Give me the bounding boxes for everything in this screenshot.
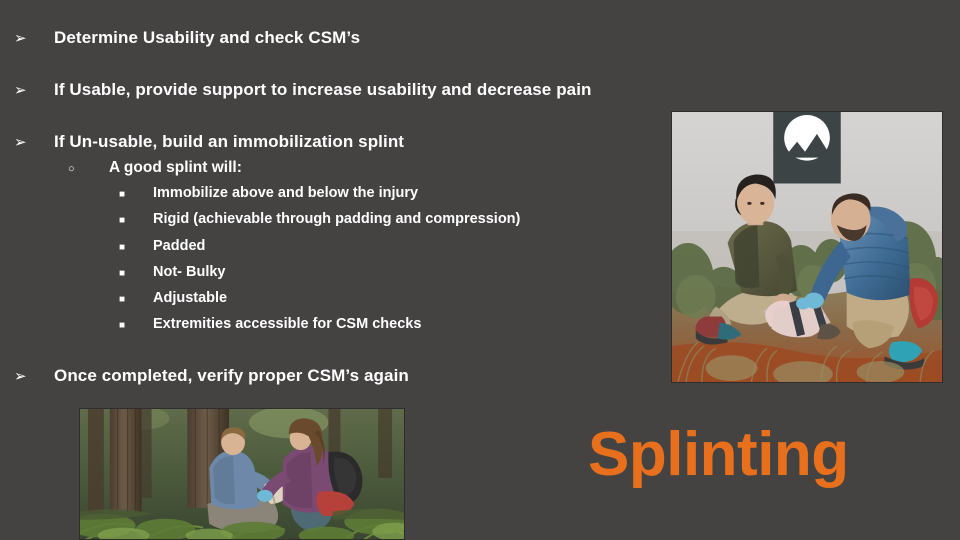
bullet-row: ■ Rigid (achievable through padding and … bbox=[119, 211, 520, 227]
bullet-row: ■ Adjustable bbox=[119, 290, 227, 306]
bullet-text: If Usable, provide support to increase u… bbox=[54, 80, 592, 100]
bullet-text: A good splint will: bbox=[109, 159, 242, 177]
svg-text:NOLS: NOLS bbox=[775, 162, 839, 185]
bullet-text: Extremities accessible for CSM checks bbox=[153, 316, 421, 332]
bullet-text: Not- Bulky bbox=[153, 264, 226, 280]
square-bullet-icon: ■ bbox=[119, 295, 153, 305]
circle-bullet-icon: ○ bbox=[68, 164, 109, 175]
bullet-row: ➢ Once completed, verify proper CSM’s ag… bbox=[14, 366, 409, 386]
bullet-text: Immobilize above and below the injury bbox=[153, 185, 418, 201]
photo-nols-splinting: NOLS bbox=[671, 111, 943, 383]
bullet-row: ■ Padded bbox=[119, 238, 205, 254]
arrow-bullet-icon: ➢ bbox=[14, 29, 54, 47]
slide-canvas: ➢ Determine Usability and check CSM’s ➢ … bbox=[0, 0, 960, 540]
photo-forest-graphic bbox=[80, 409, 404, 539]
bullet-row: ➢ If Usable, provide support to increase… bbox=[14, 80, 592, 100]
bullet-row: ■ Extremities accessible for CSM checks bbox=[119, 316, 421, 332]
bullet-row: ➢ If Un-usable, build an immobilization … bbox=[14, 132, 404, 152]
bullet-row: ➢ Determine Usability and check CSM’s bbox=[14, 28, 360, 48]
square-bullet-icon: ■ bbox=[119, 216, 153, 226]
bullet-text: Once completed, verify proper CSM’s agai… bbox=[54, 366, 409, 386]
bullet-row: ■ Not- Bulky bbox=[119, 264, 226, 280]
bullet-text: Padded bbox=[153, 238, 205, 254]
arrow-bullet-icon: ➢ bbox=[14, 81, 54, 99]
bullet-row: ■ Immobilize above and below the injury bbox=[119, 185, 418, 201]
bullet-text: Adjustable bbox=[153, 290, 227, 306]
square-bullet-icon: ■ bbox=[119, 269, 153, 279]
slide-title: Splinting bbox=[588, 424, 849, 486]
square-bullet-icon: ■ bbox=[119, 321, 153, 331]
bullet-text: Rigid (achievable through padding and co… bbox=[153, 211, 520, 227]
bullet-row: ○ A good splint will: bbox=[68, 159, 242, 177]
square-bullet-icon: ■ bbox=[119, 243, 153, 253]
arrow-bullet-icon: ➢ bbox=[14, 367, 54, 385]
bullet-text: Determine Usability and check CSM’s bbox=[54, 28, 360, 48]
square-bullet-icon: ■ bbox=[119, 190, 153, 200]
bullet-text: If Un-usable, build an immobilization sp… bbox=[54, 132, 404, 152]
arrow-bullet-icon: ➢ bbox=[14, 133, 54, 151]
photo-nols-graphic: NOLS bbox=[672, 112, 942, 382]
photo-forest-splinting bbox=[79, 408, 405, 540]
nols-logo-icon: NOLS bbox=[773, 112, 841, 185]
